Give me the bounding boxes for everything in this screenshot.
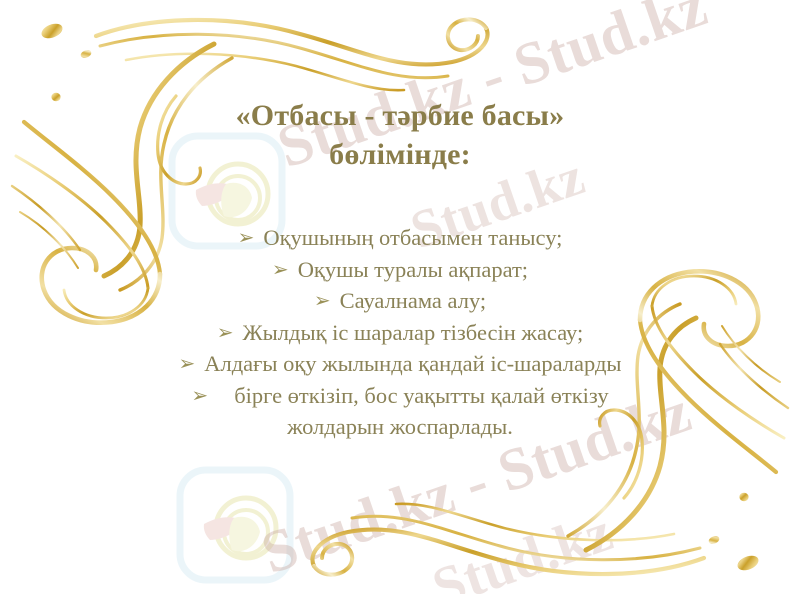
bullet-arrow-icon: ➢ xyxy=(178,350,195,378)
slide-canvas: Stud.kz - Stud.kz Stud.kz Stud.kz - Stud… xyxy=(0,0,800,594)
list-item: ➢бірге өткізіп, бос уақытты қалай өткізу xyxy=(70,380,730,412)
slide-title: «Отбасы - тәрбие басы» бөлімінде: xyxy=(60,96,740,174)
list-item: ➢Сауалнама алу; xyxy=(70,285,730,317)
list-item: ➢Алдағы оқу жылында қандай іс-шараларды xyxy=(70,348,730,380)
list-item-text: Жылдық іс шаралар тізбесін жасау; xyxy=(243,320,584,345)
bullet-arrow-icon: ➢ xyxy=(191,382,208,410)
list-item-text: Алдағы оқу жылында қандай іс-шараларды xyxy=(204,351,621,376)
watermark-text-corner: Stud.kz xyxy=(425,500,621,594)
list-item: жолдарын жоспарлады. xyxy=(70,411,730,443)
title-line-1: «Отбасы - тәрбие басы» xyxy=(236,99,565,132)
list-item-text: бірге өткізіп, бос уақытты қалай өткізу xyxy=(234,383,608,408)
list-item: ➢Оқушы туралы ақпарат; xyxy=(70,254,730,286)
stud-kz-logo-icon xyxy=(176,466,294,589)
list-item-text: жолдарын жоспарлады. xyxy=(287,414,513,439)
bullet-arrow-icon: ➢ xyxy=(238,224,255,252)
bullet-arrow-icon: ➢ xyxy=(314,287,331,315)
list-item-text: Сауалнама алу; xyxy=(340,288,487,313)
list-item: ➢Оқушының отбасымен танысу; xyxy=(70,222,730,254)
title-line-2: бөлімінде: xyxy=(60,135,740,174)
bullet-list: ➢Оқушының отбасымен танысу; ➢Оқушы турал… xyxy=(70,222,730,443)
list-item-text: Оқушының отбасымен танысу; xyxy=(263,225,562,250)
bullet-arrow-icon: ➢ xyxy=(217,319,234,347)
list-item: ➢Жылдық іс шаралар тізбесін жасау; xyxy=(70,317,730,349)
bullet-arrow-icon: ➢ xyxy=(272,256,289,284)
list-item-text: Оқушы туралы ақпарат; xyxy=(298,257,528,282)
